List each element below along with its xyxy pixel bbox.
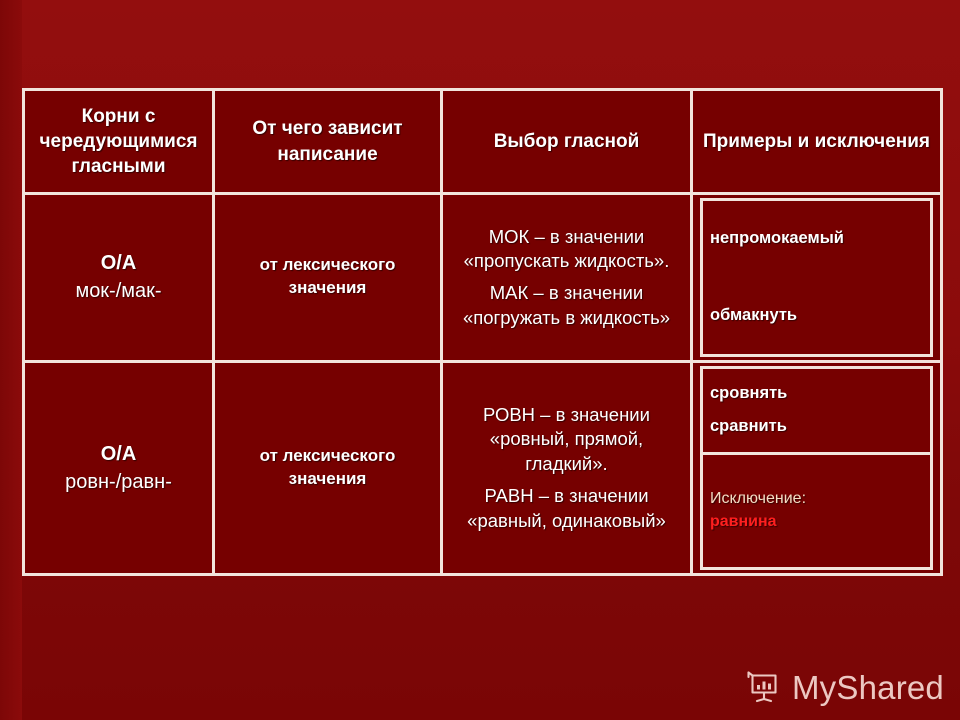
cell-choice-mok-mak: МОК – в значении «пропускать жидкость». … [442,194,692,362]
examples-subtable-1: непромокаемый обмакнуть [700,198,933,357]
myshared-watermark: MyShared [744,668,944,706]
exception-block: Исключение: равнина [702,453,932,568]
column-header-depends: От чего зависит написание [214,90,442,194]
example-word: обмакнуть [710,306,923,326]
example-word: непромокаемый [710,229,923,249]
cell-choice-rovn-ravn: РОВН – в значении «ровный, прямой, гладк… [442,361,692,574]
examples-block-1: непромокаемый обмакнуть [702,200,932,356]
cell-root-mok-mak: О/А мок-/мак- [24,194,214,362]
root-letters: О/А [101,443,137,465]
table-row: О/А ровн-/равн- от лексического значения… [24,361,942,574]
example-word: сравнить [710,417,923,437]
myshared-label: MyShared [792,671,944,704]
choice-rule-2: РАВН – в значении «равный, одинаковый» [450,484,683,533]
spacer [710,262,923,306]
cell-depends-rovn-ravn: от лексического значения [214,361,442,574]
choice-rule-1: РОВН – в значении «ровный, прямой, гладк… [450,403,683,476]
root-letters: О/А [101,252,137,274]
example-word: сровнять [710,384,923,404]
cell-root-rovn-ravn: О/А ровн-/равн- [24,361,214,574]
cell-examples-mok-mak: непромокаемый обмакнуть [692,194,942,362]
presentation-chart-icon [744,668,782,706]
root-pair: мок-/мак- [75,280,161,302]
cell-depends-mok-mak: от лексического значения [214,194,442,362]
examples-block-2: сровнять сравнить [702,367,932,453]
vowel-table-container: Корни с чередующимися гласными От чего з… [22,88,940,576]
table-header-row: Корни с чередующимися гласными От чего з… [24,90,942,194]
exception-word: равнина [710,512,923,533]
cell-examples-rovn-ravn: сровнять сравнить Исключение: равнина [692,361,942,574]
choice-rule-2: МАК – в значении «погружать в жидкость» [450,281,683,330]
slide-background: Корни с чередующимися гласными От чего з… [0,0,960,720]
column-header-choice: Выбор гласной [442,90,692,194]
column-header-roots: Корни с чередующимися гласными [24,90,214,194]
alternating-vowels-table: Корни с чередующимися гласными От чего з… [22,88,943,576]
examples-subtable-2: сровнять сравнить Исключение: равнина [700,366,933,570]
choice-rule-1: МОК – в значении «пропускать жидкость». [450,225,683,274]
column-header-examples: Примеры и исключения [692,90,942,194]
root-pair: ровн-/равн- [65,471,172,493]
exception-label: Исключение: [710,489,923,510]
table-row: О/А мок-/мак- от лексического значения М… [24,194,942,362]
